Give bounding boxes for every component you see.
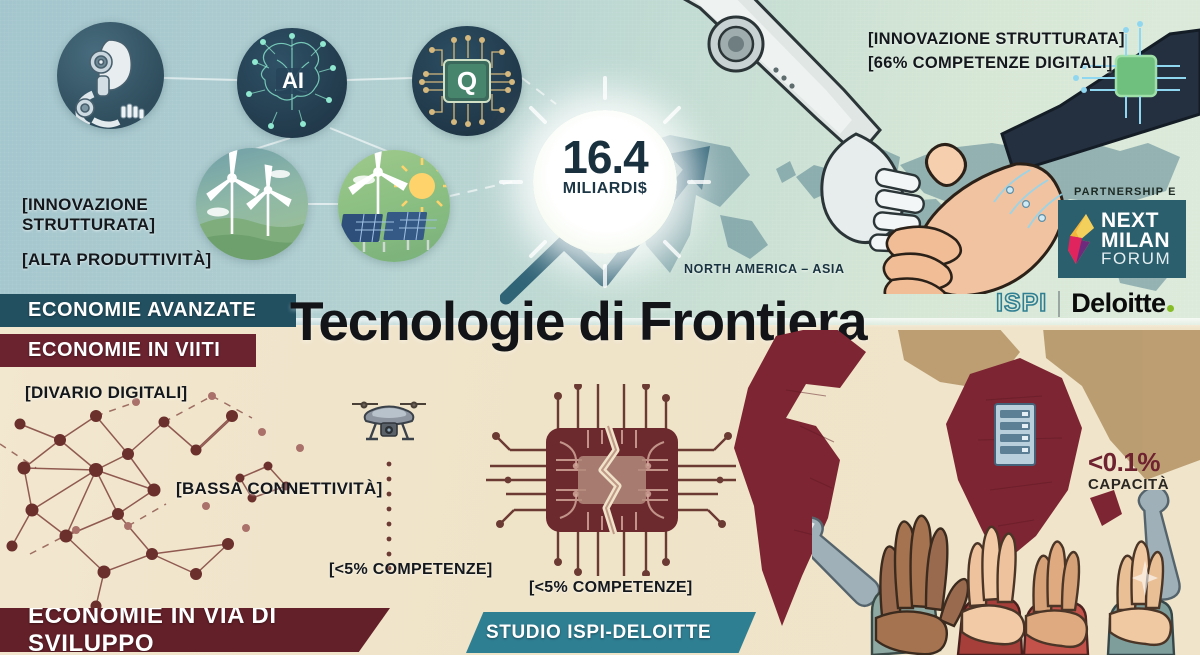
node-solar-energy <box>338 150 450 262</box>
tag-bassa-connettivita: [BASSA CONNETTIVITÀ] <box>176 479 383 499</box>
deloitte-dot-icon <box>1167 305 1174 312</box>
tag-innovazione-strutturata-right: [INNOVAZIONE STRUTTURATA] <box>868 30 1125 49</box>
nmf-line-forum: FORUM <box>1101 251 1171 267</box>
map-caption-north-america-asia: NORTH AMERICA – ASIA <box>684 262 845 276</box>
node-ai-brain: AI <box>237 28 347 138</box>
ispi-logo: ISPI <box>996 289 1047 318</box>
tag-competenze-chip: [<5% COMPETENZE] <box>529 579 693 598</box>
nmf-line-next: NEXT <box>1101 211 1171 231</box>
next-milan-forum-mark <box>1064 212 1096 266</box>
nmf-line-milan: MILAN <box>1101 231 1171 251</box>
cracked-chip-icon <box>486 384 736 576</box>
next-milan-forum-wordmark: NEXT MILAN FORUM <box>1101 211 1171 268</box>
tag-66-competenze-digitali: [66% COMPETENZE DIGITALI] <box>868 54 1113 73</box>
partnership-label: PARTNERSHIP E <box>1074 186 1177 198</box>
banner-studio-ispi-deloitte: STUDIO ISPI-DELOITTE <box>466 612 756 653</box>
deloitte-wordmark: Deloitte <box>1071 288 1165 318</box>
node-robot-humanoid <box>57 22 164 129</box>
tag-divario-digitali: [DIVARIO DIGITALI] <box>25 383 187 403</box>
capacity-label: CAPACITÀ <box>1088 476 1169 493</box>
node-ai-label: AI <box>282 68 304 93</box>
next-milan-forum-logo: NEXT MILAN FORUM <box>1058 200 1186 278</box>
drone-signal-dots <box>386 460 392 572</box>
tag-competenze-drone: [<5% COMPETENZE] <box>329 561 493 580</box>
server-rack-icon <box>994 403 1036 466</box>
banner-economie-avanzate: ECONOMIE AVANZATE <box>0 294 296 327</box>
tag-innovazione-strutturata-left: [INNOVAZIONE STRUTTURATA] <box>22 195 155 235</box>
infographic-poster: AI Q <box>0 0 1200 655</box>
tag-alta-produttivita: [ALTA PRODUTTIVITÀ] <box>22 250 212 270</box>
node-quantum-label: Q <box>457 66 477 96</box>
node-wind-turbines <box>196 148 308 260</box>
logo-divider <box>1058 291 1060 317</box>
sponsor-logos-row: ISPI Deloitte <box>996 288 1174 319</box>
capacity-stat: <0.1% CAPACITÀ <box>1088 447 1169 493</box>
banner-economie-in-via-di-sviluppo: ECONOMIE IN VIA DI SVILUPPO <box>0 608 390 652</box>
sparkle-icon <box>1132 560 1158 596</box>
drone-icon <box>348 393 430 453</box>
capacity-value: <0.1% <box>1088 447 1169 478</box>
deloitte-logo: Deloitte <box>1071 288 1174 319</box>
